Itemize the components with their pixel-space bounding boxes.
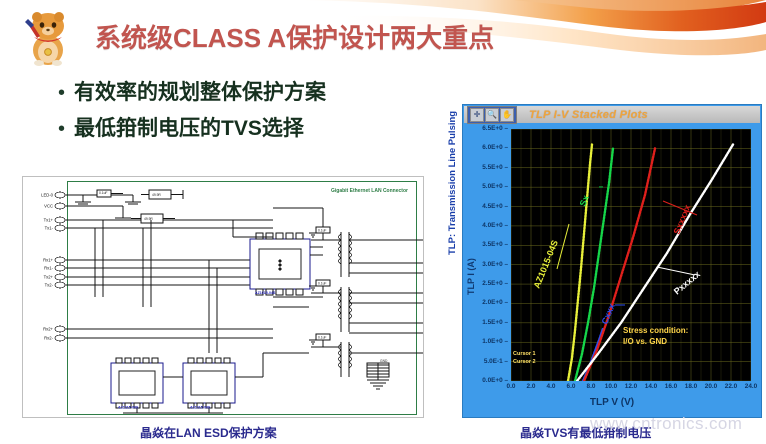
svg-text:Tx1+: Tx1+	[44, 217, 54, 222]
x-tick-label: 4.0	[547, 383, 556, 390]
annotation-line: I/O vs. GND	[623, 336, 688, 347]
x-tick-label: 14.0	[645, 383, 657, 390]
y-tick-label: 2.5E+0 –	[482, 280, 508, 287]
svg-text:Rx2+: Rx2+	[43, 326, 53, 331]
tlp-definition-note: TLP: Transmission Line Pulsing	[447, 111, 458, 255]
x-tick-label: 10.0	[605, 383, 617, 390]
series-leader-line	[657, 267, 695, 275]
x-axis-tick-labels: 0.02.04.06.08.010.012.014.016.018.020.02…	[511, 382, 751, 394]
series-label: AZ1015-04S	[532, 239, 560, 290]
y-tick-label: 5.0E-1 –	[484, 358, 508, 365]
y-tick-label: 2.0E+0 –	[482, 299, 508, 306]
y-axis-tick-labels: 0.0E+0 –5.0E-1 –1.0E+0 –1.5E+0 –2.0E+0 –…	[463, 129, 508, 381]
circuit-drawing: AZ1015-04S AZ1015-04S AZ1015-04S 0.1uF 4…	[23, 177, 423, 417]
svg-text:49.9R: 49.9R	[144, 217, 153, 221]
list-item: • 有效率的规划整体保护方案	[58, 78, 458, 108]
svg-text:0.1uF: 0.1uF	[318, 336, 326, 340]
x-tick-label: 22.0	[725, 383, 737, 390]
crosshair-icon[interactable]: ✛	[470, 108, 484, 122]
y-tick-label: 3.0E+0 –	[482, 261, 508, 268]
svg-text:AZ1015-04S: AZ1015-04S	[255, 291, 276, 295]
svg-text:AZ1015-04S: AZ1015-04S	[118, 406, 139, 410]
page-title: 系统级CLASS A保护设计两大重点	[95, 18, 494, 55]
bullet-dot-icon: •	[58, 78, 74, 108]
y-tick-label: 5.0E+0 –	[482, 183, 508, 190]
bullet-text: 最低箝制电压的TVS选择	[74, 114, 304, 144]
caption-left-panel: 晶焱在LAN ESD保护方案	[140, 424, 277, 441]
x-tick-label: 8.0	[587, 383, 596, 390]
chart-toolbar[interactable]: ✛ 🔍 ✋	[467, 106, 517, 124]
y-tick-label: 5.5E+0 –	[482, 164, 508, 171]
svg-text:Tx2-: Tx2-	[45, 282, 54, 287]
y-tick-label: 6.5E+0 –	[482, 125, 508, 132]
x-tick-label: 12.0	[625, 383, 637, 390]
magnifier-icon[interactable]: 🔍	[485, 108, 499, 122]
plot-area[interactable]: AZ1015-04SSxCxxxSxxxxxPxxxxx Stress cond…	[511, 129, 751, 381]
circuit-schematic-panel: Gigabit Ethernet LAN Connector	[22, 176, 424, 418]
x-tick-label: 16.0	[665, 383, 677, 390]
x-tick-label: 24.0	[745, 383, 757, 390]
annotation-line: Stress condition:	[623, 325, 688, 336]
y-tick-label: 0.0E+0 –	[482, 377, 508, 384]
mascot-logo	[22, 6, 74, 68]
series-trace	[568, 145, 592, 381]
list-item: • 最低箝制电压的TVS选择	[58, 114, 458, 144]
x-tick-label: 20.0	[705, 383, 717, 390]
series-label: Sxxxxx	[672, 203, 693, 236]
series-label: Cxxx	[600, 302, 617, 326]
cursor-1-legend: Cursor 1	[513, 351, 536, 357]
series-leader-line	[557, 224, 569, 269]
x-tick-label: 18.0	[685, 383, 697, 390]
svg-text:Rx1+: Rx1+	[43, 257, 53, 262]
svg-text:Tx1-: Tx1-	[45, 225, 54, 230]
y-tick-label: 6.0E+0 –	[482, 144, 508, 151]
y-tick-label: 4.5E+0 –	[482, 203, 508, 210]
bullet-text: 有效率的规划整体保护方案	[74, 78, 326, 108]
svg-text:LED-0: LED-0	[41, 192, 54, 197]
x-tick-label: 2.0	[527, 383, 536, 390]
svg-text:Rx1-: Rx1-	[44, 265, 53, 270]
svg-text:Tx2+: Tx2+	[44, 274, 54, 279]
svg-text:Rx2-: Rx2-	[44, 335, 53, 340]
hand-icon[interactable]: ✋	[500, 108, 514, 122]
chart-window-titlebar: ✛ 🔍 ✋ TLP I-V Stacked Plots	[464, 106, 760, 123]
svg-text:VCC: VCC	[44, 203, 53, 208]
stress-condition-annotation: Stress condition:I/O vs. GND	[623, 325, 688, 347]
svg-text:GND: GND	[380, 359, 388, 363]
chart-window-title: TLP I-V Stacked Plots	[529, 109, 648, 121]
series-label: Sx	[578, 194, 591, 208]
svg-text:0.1uF: 0.1uF	[318, 229, 326, 233]
watermark: www.cntronics.com	[590, 414, 742, 434]
svg-text:0.1uF: 0.1uF	[99, 191, 107, 195]
x-tick-label: 0.0	[507, 383, 516, 390]
y-tick-label: 3.5E+0 –	[482, 241, 508, 248]
svg-text:49.9R: 49.9R	[152, 193, 161, 197]
bullet-list: • 有效率的规划整体保护方案 • 最低箝制电压的TVS选择	[58, 78, 458, 150]
svg-text:AZ1015-04S: AZ1015-04S	[190, 406, 211, 410]
x-axis-title: TLP V (V)	[463, 397, 761, 408]
y-tick-label: 1.5E+0 –	[482, 319, 508, 326]
y-tick-label: 1.0E+0 –	[482, 338, 508, 345]
y-tick-label: 4.0E+0 –	[482, 222, 508, 229]
svg-text:0.1uF: 0.1uF	[318, 282, 326, 286]
tlp-chart-window: ✛ 🔍 ✋ TLP I-V Stacked Plots TLP: Transmi…	[462, 104, 762, 418]
x-tick-label: 6.0	[567, 383, 576, 390]
cursor-2-legend: Cursor 2	[513, 359, 536, 365]
bullet-dot-icon: •	[58, 114, 74, 144]
